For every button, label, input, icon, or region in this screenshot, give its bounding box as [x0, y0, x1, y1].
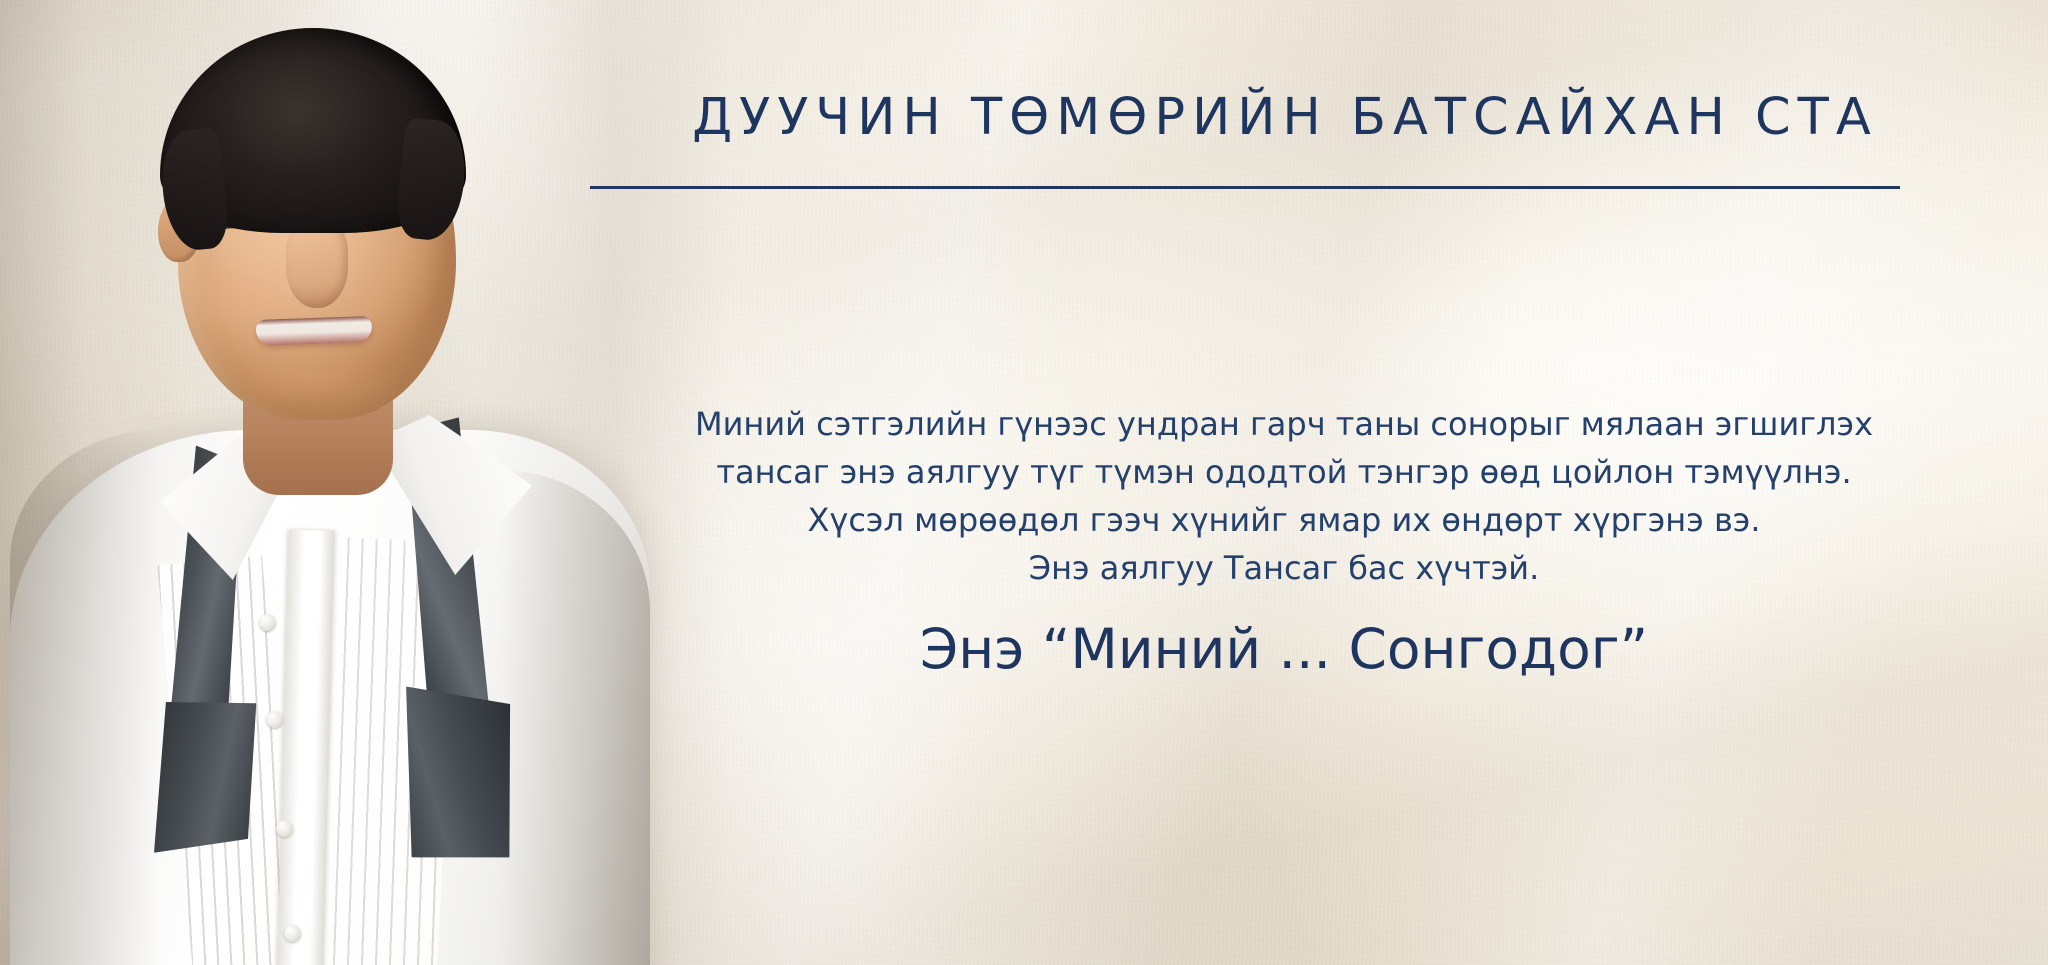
quote-line-4: Энэ аялгуу Тансаг бас хүчтэй.: [520, 544, 2048, 592]
nose: [286, 222, 348, 308]
tagline: Энэ “Миний ... Сонгодог”: [520, 613, 2048, 685]
title-underline: [590, 186, 1900, 189]
quote-line-3: Хүсэл мөрөөдөл гээч хүнийг ямар их өндөр…: [520, 496, 2048, 544]
quote-block: Миний сэтгэлийн гүнээс ундран гарч таны …: [520, 400, 2048, 592]
chin-shading: [232, 350, 402, 416]
shirt-button: [259, 614, 276, 631]
quote-line-1: Миний сэтгэлийн гүнээс ундран гарч таны …: [520, 400, 2048, 448]
quote-line-2: тансаг энэ аялгуу түг түмэн ододтой тэнг…: [520, 448, 2048, 496]
shirt-button: [284, 925, 301, 942]
shirt-shadow-left: [10, 430, 160, 965]
shirt-button: [266, 711, 283, 728]
text-column: ДУУЧИН ТӨМӨРИЙН БАТСАЙХАН СТА Миний сэтг…: [480, 0, 2048, 965]
page-title: ДУУЧИН ТӨМӨРИЙН БАТСАЙХАН СТА: [570, 88, 2000, 147]
promo-banner: ДУУЧИН ТӨМӨРИЙН БАТСАЙХАН СТА Миний сэтг…: [0, 0, 2048, 965]
shirt-button: [276, 820, 293, 837]
mouth: [256, 316, 373, 346]
